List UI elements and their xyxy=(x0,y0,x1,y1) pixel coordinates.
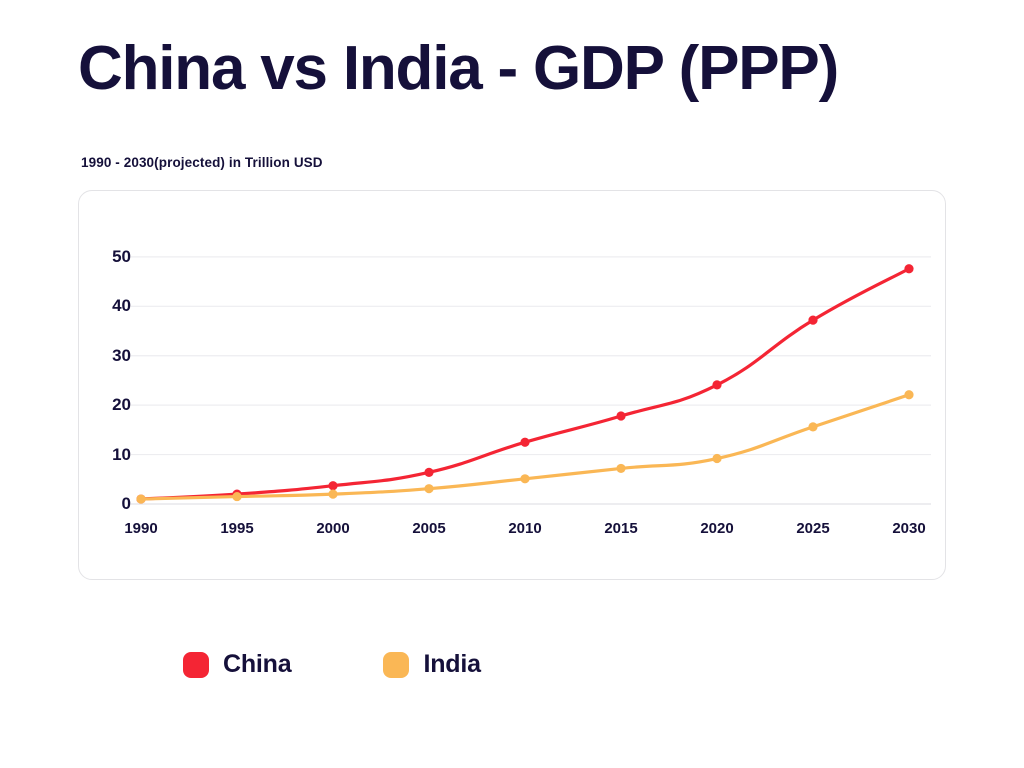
data-point-marker[interactable] xyxy=(808,422,817,431)
chart-legend: ChinaIndia xyxy=(183,650,481,679)
legend-item-label: India xyxy=(423,650,480,679)
data-point-marker[interactable] xyxy=(904,390,913,399)
data-point-marker[interactable] xyxy=(712,454,721,463)
x-axis-tick-label: 2015 xyxy=(586,520,656,537)
page-title: China vs India - GDP (PPP) xyxy=(78,36,838,101)
data-point-marker[interactable] xyxy=(520,474,529,483)
legend-item-label: China xyxy=(223,650,291,679)
legend-item-china[interactable]: China xyxy=(183,650,291,679)
data-point-marker[interactable] xyxy=(520,438,529,447)
y-axis-tick-label: 40 xyxy=(85,296,131,316)
x-axis-tick-label: 2005 xyxy=(394,520,464,537)
data-point-marker[interactable] xyxy=(232,492,241,501)
data-point-marker[interactable] xyxy=(616,464,625,473)
data-point-marker[interactable] xyxy=(712,380,721,389)
square-swatch-icon xyxy=(183,652,209,678)
x-axis-tick-label: 2020 xyxy=(682,520,752,537)
data-point-marker[interactable] xyxy=(328,481,337,490)
data-point-marker[interactable] xyxy=(328,490,337,499)
data-point-marker[interactable] xyxy=(904,264,913,273)
x-axis-tick-label: 2025 xyxy=(778,520,848,537)
series-line-china xyxy=(141,269,909,499)
y-axis-tick-label: 50 xyxy=(85,247,131,267)
legend-item-india[interactable]: India xyxy=(383,650,480,679)
x-axis-tick-label: 2010 xyxy=(490,520,560,537)
y-axis-tick-label: 0 xyxy=(85,494,131,514)
data-point-marker[interactable] xyxy=(424,484,433,493)
data-point-marker[interactable] xyxy=(136,494,145,503)
y-axis-tick-label: 10 xyxy=(85,445,131,465)
x-axis-tick-label: 1995 xyxy=(202,520,272,537)
x-axis-tick-label: 2000 xyxy=(298,520,368,537)
plot-area: 0102030405019901995200020052010201520202… xyxy=(79,191,947,581)
data-point-marker[interactable] xyxy=(424,468,433,477)
chart-card: 0102030405019901995200020052010201520202… xyxy=(78,190,946,580)
data-point-marker[interactable] xyxy=(808,316,817,325)
x-axis-tick-label: 1990 xyxy=(106,520,176,537)
y-axis-tick-label: 20 xyxy=(85,395,131,415)
y-axis-tick-label: 30 xyxy=(85,346,131,366)
data-point-marker[interactable] xyxy=(616,411,625,420)
chart-subtitle: 1990 - 2030(projected) in Trillion USD xyxy=(81,155,323,170)
x-axis-tick-label: 2030 xyxy=(874,520,944,537)
chart-page: China vs India - GDP (PPP) 1990 - 2030(p… xyxy=(0,0,1024,768)
square-swatch-icon xyxy=(383,652,409,678)
series-line-india xyxy=(141,395,909,499)
